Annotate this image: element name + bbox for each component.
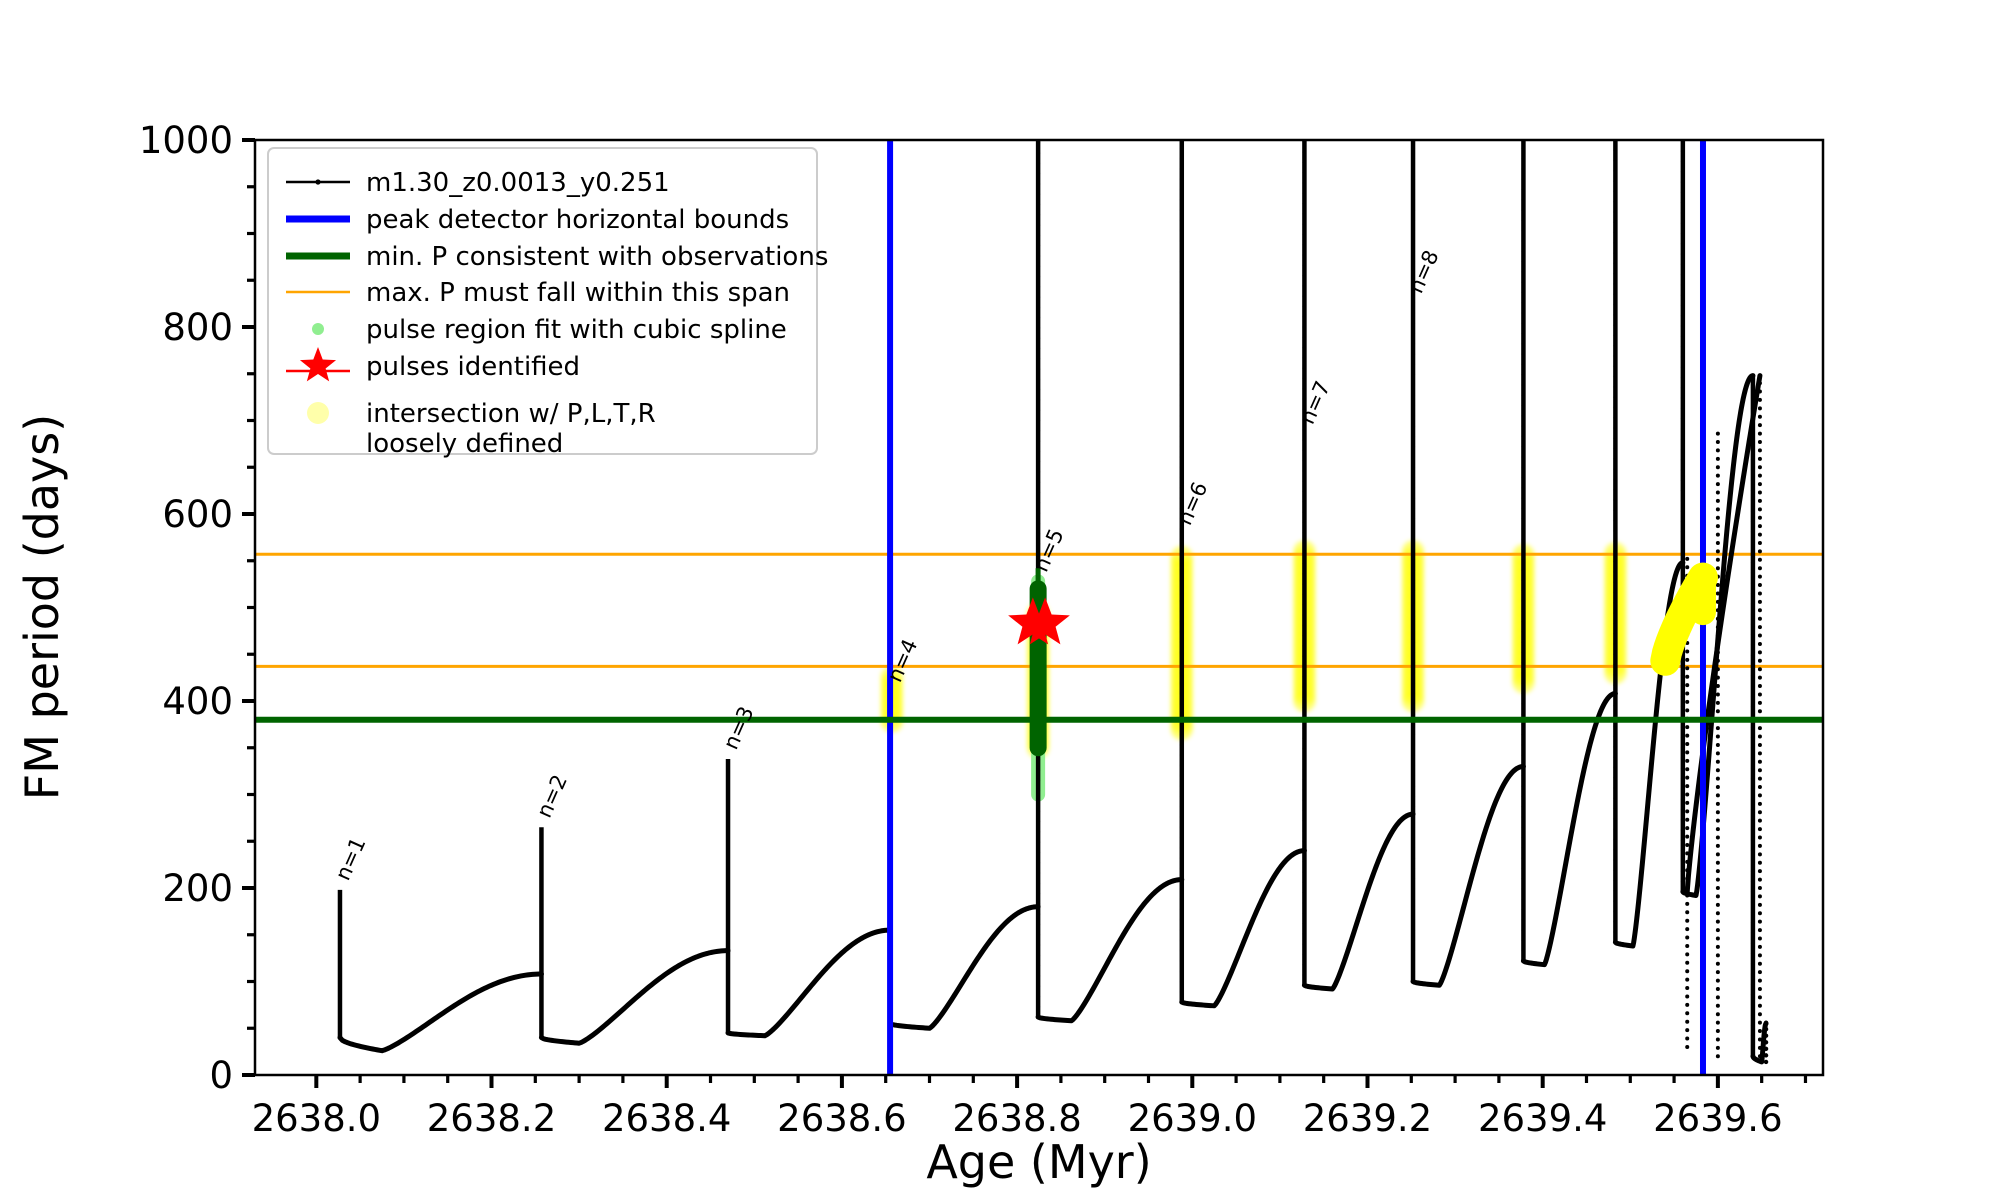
data-point [1758, 457, 1762, 461]
data-point [1521, 188, 1525, 192]
data-point [1521, 527, 1525, 531]
data-point [1751, 540, 1755, 544]
data-point [1613, 621, 1617, 625]
data-point [1758, 920, 1762, 924]
data-point [1411, 455, 1415, 459]
data-point [1180, 260, 1184, 264]
data-point [1411, 650, 1415, 654]
data-point [1751, 972, 1755, 976]
data-point [1758, 1037, 1762, 1041]
data-point [1613, 693, 1617, 697]
data-point [1036, 172, 1040, 176]
data-point [1716, 558, 1720, 562]
data-point [1685, 952, 1689, 956]
data-point [1758, 634, 1762, 638]
data-point [1758, 1046, 1762, 1050]
data-point [1685, 692, 1689, 696]
data-point [1758, 474, 1762, 478]
data-point [1613, 385, 1617, 389]
data-point [1716, 962, 1720, 966]
data-point [1302, 922, 1306, 926]
data-point [1751, 519, 1755, 523]
data-point [1411, 239, 1415, 243]
data-point [1716, 1021, 1720, 1025]
chart-svg: n=1n=2n=3n=4n=5n=6n=7n=8 2638.02638.2263… [0, 0, 2000, 1200]
data-point [1716, 1004, 1720, 1008]
data-point [1036, 326, 1040, 330]
data-point [1716, 533, 1720, 537]
data-point [1411, 434, 1415, 438]
data-point [1521, 784, 1525, 788]
data-point [1716, 482, 1720, 486]
data-point [1036, 305, 1040, 309]
data-point [1521, 661, 1525, 665]
data-point [1180, 393, 1184, 397]
data-point [1521, 393, 1525, 397]
data-point [1685, 565, 1689, 569]
data-point [1681, 859, 1685, 863]
data-point [1681, 355, 1685, 359]
legend-label: m1.30_z0.0013_y0.251 [366, 168, 670, 198]
data-point [1521, 774, 1525, 778]
data-point [1036, 778, 1040, 782]
data-point [1758, 793, 1762, 797]
data-point [1180, 434, 1184, 438]
data-point [1613, 807, 1617, 811]
data-point [1411, 897, 1415, 901]
data-point [1685, 961, 1689, 965]
data-point [1681, 818, 1685, 822]
data-point [1758, 1054, 1762, 1058]
data-point [1521, 157, 1525, 161]
data-point [1302, 983, 1306, 987]
data-point [1685, 986, 1689, 990]
data-point [1180, 537, 1184, 541]
data-point [1302, 520, 1306, 524]
data-point [1716, 810, 1720, 814]
legend-entry[interactable]: min. P consistent with observations [286, 242, 828, 272]
data-point [1751, 869, 1755, 873]
data-point [1036, 439, 1040, 443]
data-point [1036, 480, 1040, 484]
data-point [1758, 558, 1762, 562]
x-tick-label: 2639.0 [1128, 1097, 1257, 1140]
data-point [1411, 640, 1415, 644]
data-point [1302, 880, 1306, 884]
data-point [1751, 591, 1755, 595]
data-point [1036, 871, 1040, 875]
data-point [1521, 198, 1525, 202]
data-point [1180, 753, 1184, 757]
data-point [1685, 902, 1689, 906]
data-point [1685, 759, 1689, 763]
legend-label: pulses identified [366, 352, 580, 382]
data-point [1036, 521, 1040, 525]
data-point [1036, 223, 1040, 227]
data-point [1758, 533, 1762, 537]
data-point [1036, 192, 1040, 196]
data-point [1613, 395, 1617, 399]
data-point [1751, 910, 1755, 914]
data-point [1681, 890, 1685, 894]
data-point [1681, 797, 1685, 801]
data-point [1180, 681, 1184, 685]
data-point [1302, 448, 1306, 452]
data-point [1685, 767, 1689, 771]
data-point [1302, 839, 1306, 843]
data-point [1716, 768, 1720, 772]
data-point [1758, 692, 1762, 696]
data-point [1180, 465, 1184, 469]
data-point [1036, 881, 1040, 885]
data-point [1302, 263, 1306, 267]
data-point [1681, 694, 1685, 698]
data-point [1036, 408, 1040, 412]
data-point [1521, 702, 1525, 706]
data-point [1751, 838, 1755, 842]
data-point [1411, 321, 1415, 325]
data-point [1681, 314, 1685, 318]
data-point [1613, 837, 1617, 841]
data-point [1036, 892, 1040, 896]
data-point [1180, 1000, 1184, 1004]
data-point [1613, 416, 1617, 420]
data-point [1521, 938, 1525, 942]
data-point [1411, 229, 1415, 233]
data-point [1681, 849, 1685, 853]
data-point [1036, 809, 1040, 813]
data-point [1411, 794, 1415, 798]
data-point [1758, 415, 1762, 419]
legend-intersection-marker [307, 402, 329, 424]
data-point [1411, 373, 1415, 377]
data-point [1036, 994, 1040, 998]
data-point [1302, 500, 1306, 504]
data-point [1521, 465, 1525, 469]
data-point [1685, 1045, 1689, 1049]
data-point [1411, 866, 1415, 870]
x-tick-label: 2638.8 [952, 1097, 1081, 1140]
data-point [1685, 750, 1689, 754]
data-point [1613, 436, 1617, 440]
data-point [1751, 1054, 1755, 1058]
data-point [1613, 909, 1617, 913]
data-point [1751, 766, 1755, 770]
x-tick-label: 2639.6 [1653, 1097, 1782, 1140]
data-point [1302, 860, 1306, 864]
data-point [1751, 561, 1755, 565]
data-point [1302, 901, 1306, 905]
data-point [1302, 243, 1306, 247]
data-point [1302, 315, 1306, 319]
data-point [1302, 366, 1306, 370]
data-point [1716, 701, 1720, 705]
data-point [1681, 293, 1685, 297]
data-point [1716, 432, 1720, 436]
data-point [1751, 807, 1755, 811]
data-point [1521, 506, 1525, 510]
data-point [1180, 599, 1184, 603]
data-point [1521, 836, 1525, 840]
data-point [1716, 995, 1720, 999]
data-point [1751, 777, 1755, 781]
data-point [1758, 995, 1762, 999]
data-point [1681, 375, 1685, 379]
data-point [1613, 231, 1617, 235]
data-point [1716, 844, 1720, 848]
data-point [1685, 910, 1689, 914]
data-point [1685, 818, 1689, 822]
y-tick-label: 600 [162, 493, 233, 536]
data-point [1681, 437, 1685, 441]
data-point [1036, 449, 1040, 453]
data-point [1681, 417, 1685, 421]
data-point [1302, 222, 1306, 226]
data-point [1758, 709, 1762, 713]
data-point [1180, 722, 1184, 726]
data-point [1613, 735, 1617, 739]
data-point [1521, 342, 1525, 346]
data-point [1681, 561, 1685, 565]
data-point [1036, 161, 1040, 165]
data-point [1681, 489, 1685, 493]
data-point [1613, 601, 1617, 605]
data-point [1613, 179, 1617, 183]
data-point [1681, 509, 1685, 513]
data-point [1685, 843, 1689, 847]
data-point [1613, 858, 1617, 862]
data-point [1758, 667, 1762, 671]
data-point [1716, 709, 1720, 713]
data-point [1180, 486, 1184, 490]
data-point [1751, 550, 1755, 554]
data-point [1758, 591, 1762, 595]
data-point [1716, 726, 1720, 730]
data-point [1180, 743, 1184, 747]
data-point [1758, 549, 1762, 553]
data-point [1751, 581, 1755, 585]
data-point [1180, 352, 1184, 356]
data-point [1180, 846, 1184, 850]
data-point [1411, 815, 1415, 819]
data-point [1716, 911, 1720, 915]
data-point [1521, 671, 1525, 675]
data-point [1716, 499, 1720, 503]
data-point [1411, 784, 1415, 788]
data-point [1758, 861, 1762, 865]
data-point [1613, 169, 1617, 173]
data-point [1411, 167, 1415, 171]
data-point [1521, 362, 1525, 366]
data-point [1613, 333, 1617, 337]
data-point [1180, 311, 1184, 315]
data-point [1302, 963, 1306, 967]
data-point [1758, 423, 1762, 427]
x-tick-label: 2639.2 [1303, 1097, 1432, 1140]
data-point [1411, 836, 1415, 840]
data-point [1758, 583, 1762, 587]
data-point [1716, 608, 1720, 612]
data-point [1716, 869, 1720, 873]
data-point [1758, 676, 1762, 680]
data-point [1411, 928, 1415, 932]
data-point [1613, 745, 1617, 749]
data-point [1180, 856, 1184, 860]
data-point [1411, 712, 1415, 716]
data-point [1716, 894, 1720, 898]
data-point [1681, 787, 1685, 791]
data-point [1681, 705, 1685, 709]
data-point [1521, 167, 1525, 171]
data-point [1681, 746, 1685, 750]
data-point [1764, 1034, 1768, 1038]
data-point [1758, 608, 1762, 612]
data-point [1764, 1040, 1768, 1044]
data-point [1036, 347, 1040, 351]
data-point [1716, 920, 1720, 924]
data-point [1521, 249, 1525, 253]
data-point [1681, 777, 1685, 781]
chart-legend[interactable]: m1.30_z0.0013_y0.251peak detector horizo… [268, 148, 828, 459]
data-point [1758, 785, 1762, 789]
data-point [1411, 301, 1415, 305]
data-point [1685, 1020, 1689, 1024]
data-point [1758, 659, 1762, 663]
data-point [1764, 1053, 1768, 1057]
data-point [1613, 683, 1617, 687]
data-point [1180, 208, 1184, 212]
data-point [1180, 794, 1184, 798]
data-point [1521, 589, 1525, 593]
data-point [1180, 836, 1184, 840]
data-point [1411, 177, 1415, 181]
data-point [1302, 304, 1306, 308]
data-point [1180, 938, 1184, 942]
data-point [1685, 784, 1689, 788]
data-point [1716, 465, 1720, 469]
data-point [1302, 778, 1306, 782]
data-point [1716, 448, 1720, 452]
data-point [1521, 311, 1525, 315]
data-point [1758, 406, 1762, 410]
data-point [1751, 602, 1755, 606]
data-point [1411, 188, 1415, 192]
data-point [1613, 776, 1617, 780]
data-point [1716, 802, 1720, 806]
data-point [1036, 388, 1040, 392]
data-point [1302, 726, 1306, 730]
data-point [1180, 301, 1184, 305]
data-point [1758, 642, 1762, 646]
data-point [1681, 201, 1685, 205]
data-point [1411, 764, 1415, 768]
data-point [1411, 404, 1415, 408]
data-point [1521, 620, 1525, 624]
data-point [1411, 671, 1415, 675]
data-point [1751, 694, 1755, 698]
data-point [1521, 733, 1525, 737]
data-point [1036, 377, 1040, 381]
data-point [1613, 580, 1617, 584]
data-point [1613, 827, 1617, 831]
data-point [1681, 838, 1685, 842]
data-point [1036, 850, 1040, 854]
data-point [1751, 931, 1755, 935]
data-point [1681, 304, 1685, 308]
data-point [1613, 848, 1617, 852]
data-point [1302, 808, 1306, 812]
legend-entry[interactable]: pulse region fit with cubic spline [312, 315, 787, 345]
data-point [1716, 743, 1720, 747]
data-point [1681, 540, 1685, 544]
data-point [1613, 457, 1617, 461]
data-point [1411, 722, 1415, 726]
data-point [1716, 566, 1720, 570]
data-point [1521, 373, 1525, 377]
data-point [1685, 1037, 1689, 1041]
data-point [1613, 765, 1617, 769]
data-point [1180, 290, 1184, 294]
data-point [1411, 383, 1415, 387]
data-point [1758, 1021, 1762, 1025]
data-point [1613, 663, 1617, 667]
data-point [1613, 477, 1617, 481]
data-point [1411, 548, 1415, 552]
data-point [1036, 861, 1040, 865]
data-point [1302, 551, 1306, 555]
data-point [1180, 568, 1184, 572]
data-point [1411, 578, 1415, 582]
data-point [1716, 878, 1720, 882]
data-point [1180, 404, 1184, 408]
data-point [1411, 537, 1415, 541]
data-point [1716, 684, 1720, 688]
data-point [1180, 620, 1184, 624]
data-point [1180, 188, 1184, 192]
data-point [1685, 658, 1689, 662]
data-point [1036, 840, 1040, 844]
data-point [1685, 725, 1689, 729]
data-point [1716, 836, 1720, 840]
data-point [1751, 643, 1755, 647]
data-point [1521, 897, 1525, 901]
data-point [1758, 777, 1762, 781]
data-point [1751, 653, 1755, 657]
data-point [1521, 270, 1525, 274]
data-point [1758, 936, 1762, 940]
data-point [1685, 776, 1689, 780]
data-point [1302, 706, 1306, 710]
data-point [1180, 949, 1184, 953]
data-point [1681, 345, 1685, 349]
data-point [1681, 530, 1685, 534]
data-point [1180, 784, 1184, 788]
data-point [1681, 478, 1685, 482]
data-point [1716, 987, 1720, 991]
data-point [1613, 529, 1617, 533]
data-point [1411, 692, 1415, 696]
data-point [1411, 465, 1415, 469]
data-point [1411, 980, 1415, 984]
data-point [1758, 844, 1762, 848]
data-point [1758, 541, 1762, 545]
data-point [1613, 272, 1617, 276]
data-point [1681, 396, 1685, 400]
data-point [1751, 962, 1755, 966]
data-point [1411, 445, 1415, 449]
x-tick-label: 2638.2 [427, 1097, 556, 1140]
data-point [1751, 797, 1755, 801]
